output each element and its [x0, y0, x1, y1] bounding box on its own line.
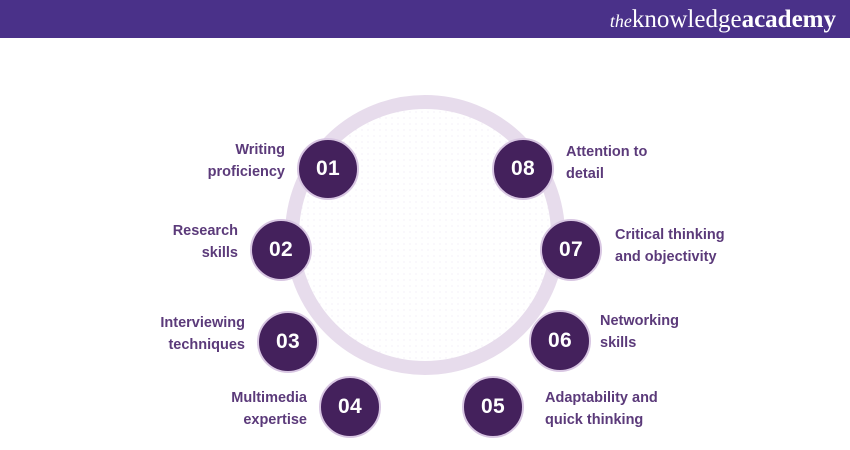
node-badge-07[interactable]: 07 — [540, 219, 602, 281]
node-label-02: Research skills — [112, 220, 238, 265]
node-number: 08 — [511, 157, 535, 181]
node-badge-01[interactable]: 01 — [297, 138, 359, 200]
logo-text-knowledge: knowledge — [632, 6, 742, 33]
ring-track — [285, 95, 565, 375]
node-label-07: Critical thinking and objectivity — [615, 224, 725, 269]
node-label-04: Multimedia expertise — [172, 387, 307, 432]
node-number: 04 — [338, 395, 362, 419]
logo-text-the: the — [610, 11, 632, 31]
node-number: 06 — [548, 329, 572, 353]
node-label-06: Networking skills — [600, 310, 679, 355]
node-number: 03 — [276, 330, 300, 354]
node-number: 02 — [269, 238, 293, 262]
node-number: 01 — [316, 157, 340, 181]
node-badge-04[interactable]: 04 — [319, 376, 381, 438]
node-number: 07 — [559, 238, 583, 262]
node-badge-08[interactable]: 08 — [492, 138, 554, 200]
node-label-01: Writing proficiency — [160, 139, 285, 184]
node-badge-03[interactable]: 03 — [257, 311, 319, 373]
node-label-05: Adaptability and quick thinking — [545, 387, 658, 432]
logo-text-academy: academy — [742, 6, 836, 33]
node-label-08: Attention to detail — [566, 141, 647, 186]
node-badge-02[interactable]: 02 — [250, 219, 312, 281]
brand-logo: theknowledgeacademy — [610, 7, 836, 32]
header-bar: theknowledgeacademy — [0, 0, 850, 38]
circular-process-diagram: 01Writing proficiency02Research skills03… — [0, 38, 850, 450]
node-label-03: Interviewing techniques — [110, 312, 245, 357]
node-badge-05[interactable]: 05 — [462, 376, 524, 438]
node-number: 05 — [481, 395, 505, 419]
node-badge-06[interactable]: 06 — [529, 310, 591, 372]
